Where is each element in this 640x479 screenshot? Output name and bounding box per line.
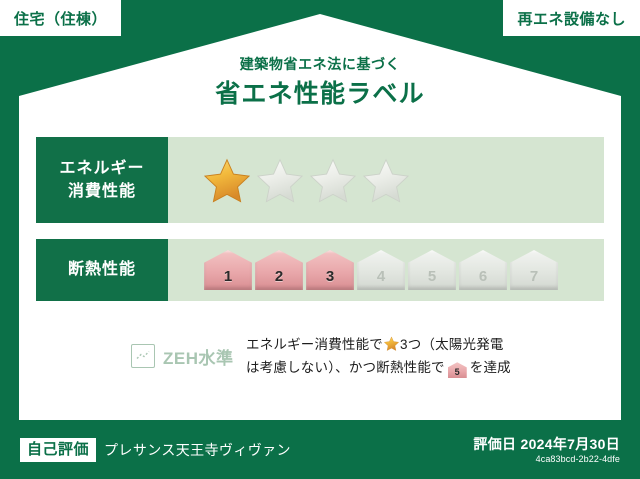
insulation-level-2-label: 2 [275, 268, 283, 285]
zeh-desc-line2-part2: を達成 [470, 360, 511, 375]
zeh-mark: ZEH水準 [36, 344, 246, 369]
evaluation-id: 4ca83bcd-2b22-4dfe [473, 454, 620, 464]
metric-value-insulation: 1 2 3 4 5 6 7 [168, 239, 604, 301]
insulation-level-3: 3 [306, 250, 354, 290]
title-subtitle: 建築物省エネ法に基づく [0, 56, 640, 73]
metric-label-energy: エネルギー 消費性能 [36, 137, 168, 223]
star-icon-filled-1 [204, 157, 250, 203]
evaluation-date: 評価日 2024年7月30日 [473, 436, 620, 454]
insulation-level-7: 7 [510, 250, 558, 290]
house-badge-icon-inline: 5 [448, 362, 467, 378]
zeh-desc-line1-part1: エネルギー消費性能で [246, 337, 383, 352]
insulation-level-6: 6 [459, 250, 507, 290]
metric-value-energy [168, 137, 604, 223]
insulation-level-1-label: 1 [224, 268, 232, 285]
insulation-level-2: 2 [255, 250, 303, 290]
insulation-level-5: 5 [408, 250, 456, 290]
star-icon-inline [384, 336, 399, 351]
footer-right: 評価日 2024年7月30日 4ca83bcd-2b22-4dfe [473, 436, 640, 465]
insulation-level-4: 4 [357, 250, 405, 290]
title-main: 省エネ性能ラベル [0, 79, 640, 109]
building-name: プレサンス天王寺ヴィヴァン [104, 440, 291, 460]
star-rating [204, 157, 409, 203]
star-icon-empty-3 [310, 157, 356, 203]
star-icon-empty-4 [363, 157, 409, 203]
label-footer: 自己評価 プレサンス天王寺ヴィヴァン 評価日 2024年7月30日 4ca83b… [0, 421, 640, 479]
insulation-level-1: 1 [204, 250, 252, 290]
insulation-level-6-label: 6 [479, 268, 487, 285]
zeh-desc-line2-part1: は考慮しない）、かつ断熱性能で [246, 360, 445, 375]
metric-label-energy-line2: 消費性能 [68, 183, 136, 200]
insulation-level-5-label: 5 [428, 268, 436, 285]
self-evaluation-badge: 自己評価 [20, 438, 96, 462]
metric-row-energy: エネルギー 消費性能 [36, 137, 604, 223]
metric-row-insulation: 断熱性能 1 2 3 4 5 6 7 [36, 239, 604, 301]
star-icon-empty-2 [257, 157, 303, 203]
zeh-description: エネルギー消費性能で3つ（太陽光発電 は考慮しない）、かつ断熱性能で5を達成 [246, 333, 604, 379]
footer-left: 自己評価 プレサンス天王寺ヴィヴァン [0, 438, 291, 462]
zeh-label: ZEH水準 [163, 344, 234, 369]
metric-label-energy-line1: エネルギー [59, 160, 144, 177]
insulation-level-4-label: 4 [377, 268, 385, 285]
energy-performance-label: 住宅（住棟） 再エネ設備なし 建築物省エネ法に基づく 省エネ性能ラベル エネルギ… [0, 0, 640, 479]
zeh-checkbox-icon [131, 344, 155, 368]
zeh-row: ZEH水準 エネルギー消費性能で3つ（太陽光発電 は考慮しない）、かつ断熱性能で… [36, 333, 604, 379]
metric-label-insulation: 断熱性能 [36, 239, 168, 301]
insulation-level-3-label: 3 [326, 268, 334, 285]
zeh-desc-line1-part2: 3つ（太陽光発電 [400, 337, 504, 352]
tag-building-type: 住宅（住棟） [0, 0, 121, 36]
insulation-level-scale: 1 2 3 4 5 6 7 [204, 250, 558, 290]
insulation-level-7-label: 7 [530, 268, 538, 285]
page-title: 建築物省エネ法に基づく 省エネ性能ラベル [0, 56, 640, 109]
tag-renewable-energy: 再エネ設備なし [503, 0, 640, 36]
